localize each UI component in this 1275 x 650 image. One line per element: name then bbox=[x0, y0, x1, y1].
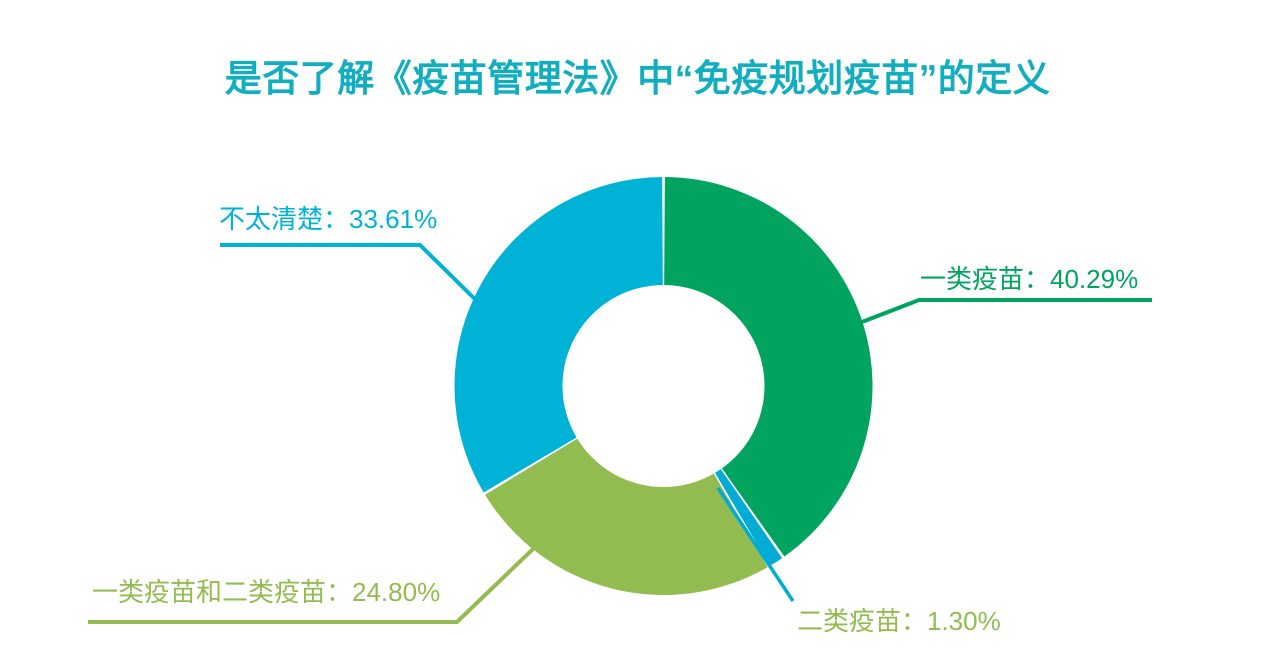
leader-line-yilei bbox=[849, 300, 1152, 327]
donut-chart-figure: 是否了解《疫苗管理法》中“免疫规划疫苗”的定义 一类疫苗：40.29% bbox=[0, 0, 1275, 650]
leader-line-butaiqingchu bbox=[220, 245, 487, 311]
donut-chart-svg bbox=[0, 0, 1275, 650]
slice-label-butaiqingchu: 不太清楚：33.61% bbox=[219, 199, 437, 236]
slice-label-yilei: 一类疫苗：40.29% bbox=[920, 259, 1138, 296]
slice-butaiqingchu[interactable] bbox=[454, 177, 662, 492]
slice-label-erlei: 二类疫苗：1.30% bbox=[797, 601, 1001, 638]
slice-label-yierlei: 一类疫苗和二类疫苗：24.80% bbox=[92, 572, 440, 609]
donut-slices bbox=[454, 177, 872, 595]
